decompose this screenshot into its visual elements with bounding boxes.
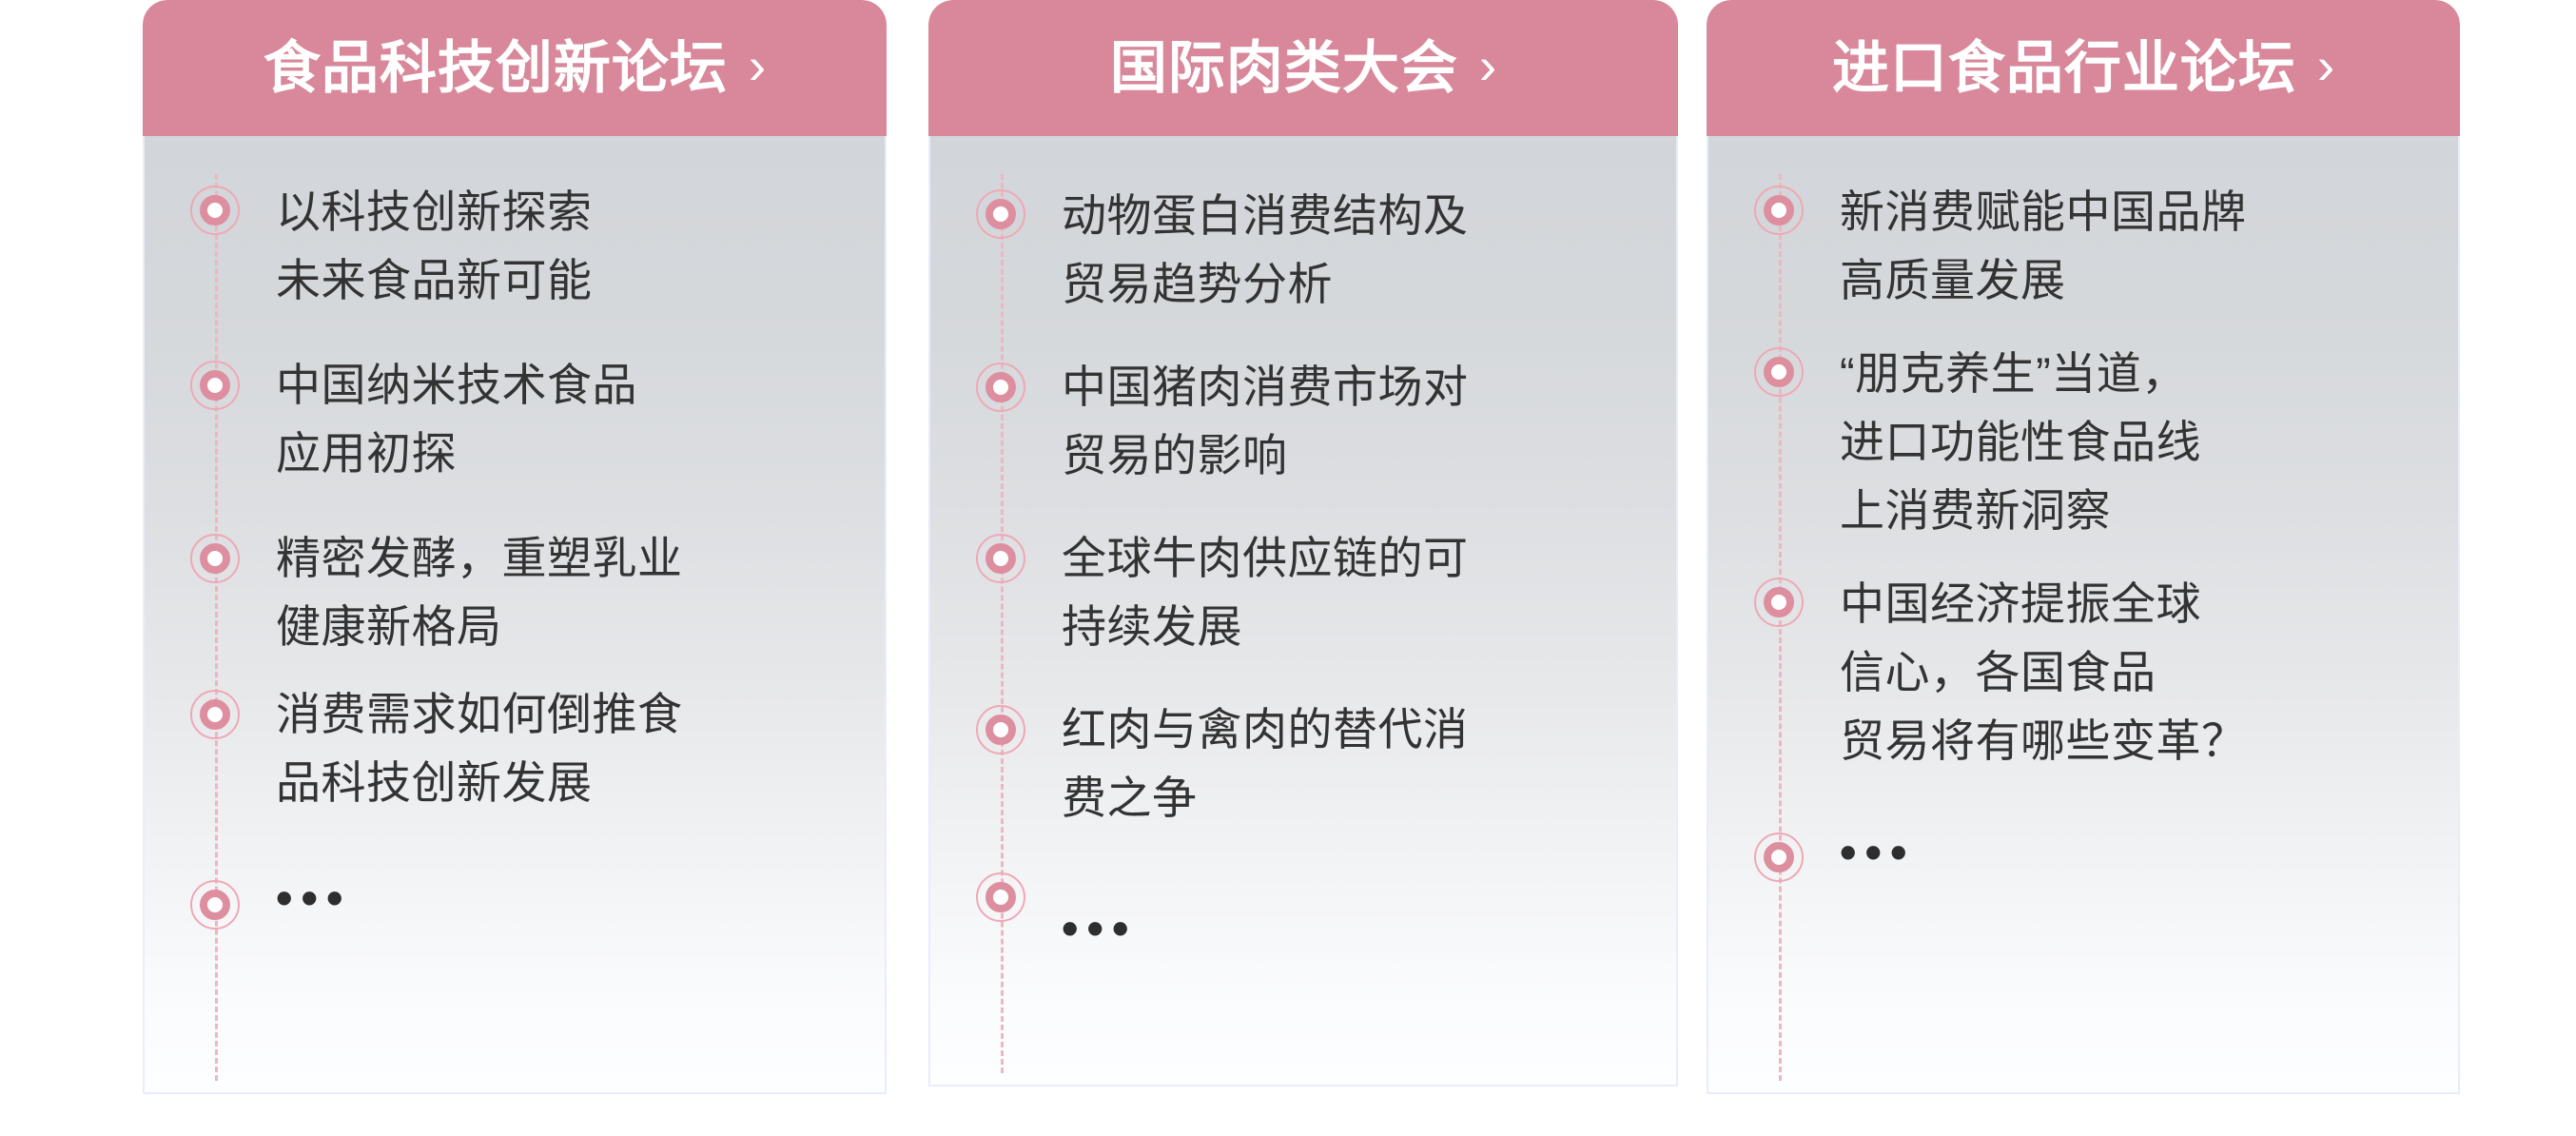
card-header-food-tech-innovation[interactable]: 食品科技创新论坛 › <box>143 0 887 136</box>
timeline-dot-icon <box>190 690 240 739</box>
topic-text: 红肉与禽肉的替代消 费之争 <box>1062 695 1676 832</box>
card-header-international-meat-conference[interactable]: 国际肉类大会 › <box>928 0 1678 136</box>
timeline-dot-icon <box>976 534 1025 583</box>
card-body-international-meat-conference: 动物蛋白消费结构及 贸易趋势分析 中国猪肉消费市场对 贸易的影响 全球牛肉供应链… <box>928 136 1678 1087</box>
card-body-food-tech-innovation: 以科技创新探索 未来食品新可能 中国纳米技术食品 应用初探 精密发酵，重塑乳业 … <box>143 136 887 1094</box>
topic-list-food-tech-innovation: 以科技创新探索 未来食品新可能 中国纳米技术食品 应用初探 精密发酵，重塑乳业 … <box>145 136 885 950</box>
timeline-dot-icon <box>190 361 240 410</box>
more-ellipsis: ••• <box>276 874 352 922</box>
timeline-dot-icon <box>1754 832 1804 882</box>
forum-card-imported-food-industry: 进口食品行业论坛 › 新消费赋能中国品牌 高质量发展 “朋克养生”当道， 进口功… <box>1707 0 2460 1094</box>
topic-text: 中国纳米技术食品 应用初探 <box>276 351 885 488</box>
topic-text: 以科技创新探索 未来食品新可能 <box>276 178 885 315</box>
list-item-more[interactable]: ••• <box>145 874 885 950</box>
topic-text: 中国经济提振全球 信心，各国食品 贸易将有哪些变革？ <box>1840 570 2458 775</box>
more-ellipsis: ••• <box>1840 829 1916 876</box>
card-body-imported-food-industry: 新消费赋能中国品牌 高质量发展 “朋克养生”当道， 进口功能性食品线 上消费新洞… <box>1707 136 2460 1094</box>
list-item[interactable]: 以科技创新探索 未来食品新可能 <box>145 136 885 351</box>
list-item[interactable]: 中国纳米技术食品 应用初探 <box>145 351 885 524</box>
card-header-imported-food-industry[interactable]: 进口食品行业论坛 › <box>1707 0 2460 136</box>
list-item[interactable]: 全球牛肉供应链的可 持续发展 <box>930 524 1676 695</box>
forum-card-food-tech-innovation: 食品科技创新论坛 › 以科技创新探索 未来食品新可能 中国纳米技术食品 应用初探… <box>143 0 887 1094</box>
topic-text: 消费需求如何倒推食 品科技创新发展 <box>276 680 885 817</box>
topic-list-international-meat-conference: 动物蛋白消费结构及 贸易趋势分析 中国猪肉消费市场对 贸易的影响 全球牛肉供应链… <box>930 136 1676 981</box>
list-item[interactable]: 红肉与禽肉的替代消 费之争 <box>930 695 1676 872</box>
timeline-dot-icon <box>190 880 240 930</box>
forum-card-international-meat-conference: 国际肉类大会 › 动物蛋白消费结构及 贸易趋势分析 中国猪肉消费市场对 贸易的影… <box>928 0 1678 1087</box>
card-title: 食品科技创新论坛 <box>263 40 728 97</box>
timeline-dot-icon <box>1754 186 1804 235</box>
forum-cards-board: 食品科技创新论坛 › 以科技创新探索 未来食品新可能 中国纳米技术食品 应用初探… <box>0 0 2576 1136</box>
chevron-right-icon: › <box>749 40 766 92</box>
timeline-dot-icon <box>976 872 1025 922</box>
topic-list-imported-food-industry: 新消费赋能中国品牌 高质量发展 “朋克养生”当道， 进口功能性食品线 上消费新洞… <box>1708 136 2458 905</box>
topic-text: “朋克养生”当道， 进口功能性食品线 上消费新洞察 <box>1840 340 2458 545</box>
timeline-dot-icon <box>1754 347 1804 397</box>
more-ellipsis: ••• <box>1062 905 1138 952</box>
list-item[interactable]: 新消费赋能中国品牌 高质量发展 <box>1708 136 2458 340</box>
topic-text: 精密发酵，重塑乳业 健康新格局 <box>276 524 885 661</box>
list-item[interactable]: 中国经济提振全球 信心，各国食品 贸易将有哪些变革？ <box>1708 570 2458 829</box>
timeline-dot-icon <box>1754 578 1804 627</box>
list-item[interactable]: 消费需求如何倒推食 品科技创新发展 <box>145 680 885 874</box>
chevron-right-icon: › <box>1479 40 1496 92</box>
list-item-more[interactable]: ••• <box>930 872 1676 981</box>
topic-text: 动物蛋白消费结构及 贸易趋势分析 <box>1062 182 1676 319</box>
timeline-dot-icon <box>190 534 240 583</box>
list-item[interactable]: “朋克养生”当道， 进口功能性食品线 上消费新洞察 <box>1708 340 2458 570</box>
list-item[interactable]: 精密发酵，重塑乳业 健康新格局 <box>145 524 885 680</box>
topic-text: 全球牛肉供应链的可 持续发展 <box>1062 524 1676 661</box>
timeline-dot-icon <box>976 362 1025 412</box>
timeline-dot-icon <box>976 705 1025 754</box>
timeline-dot-icon <box>976 189 1025 239</box>
card-title: 国际肉类大会 <box>1110 40 1458 97</box>
list-item[interactable]: 中国猪肉消费市场对 贸易的影响 <box>930 353 1676 524</box>
topic-text: 新消费赋能中国品牌 高质量发展 <box>1840 178 2458 315</box>
timeline-dot-icon <box>190 186 240 235</box>
card-title: 进口食品行业论坛 <box>1832 40 2296 97</box>
list-item[interactable]: 动物蛋白消费结构及 贸易趋势分析 <box>930 136 1676 353</box>
list-item-more[interactable]: ••• <box>1708 829 2458 905</box>
chevron-right-icon: › <box>2317 40 2334 92</box>
topic-text: 中国猪肉消费市场对 贸易的影响 <box>1062 353 1676 490</box>
